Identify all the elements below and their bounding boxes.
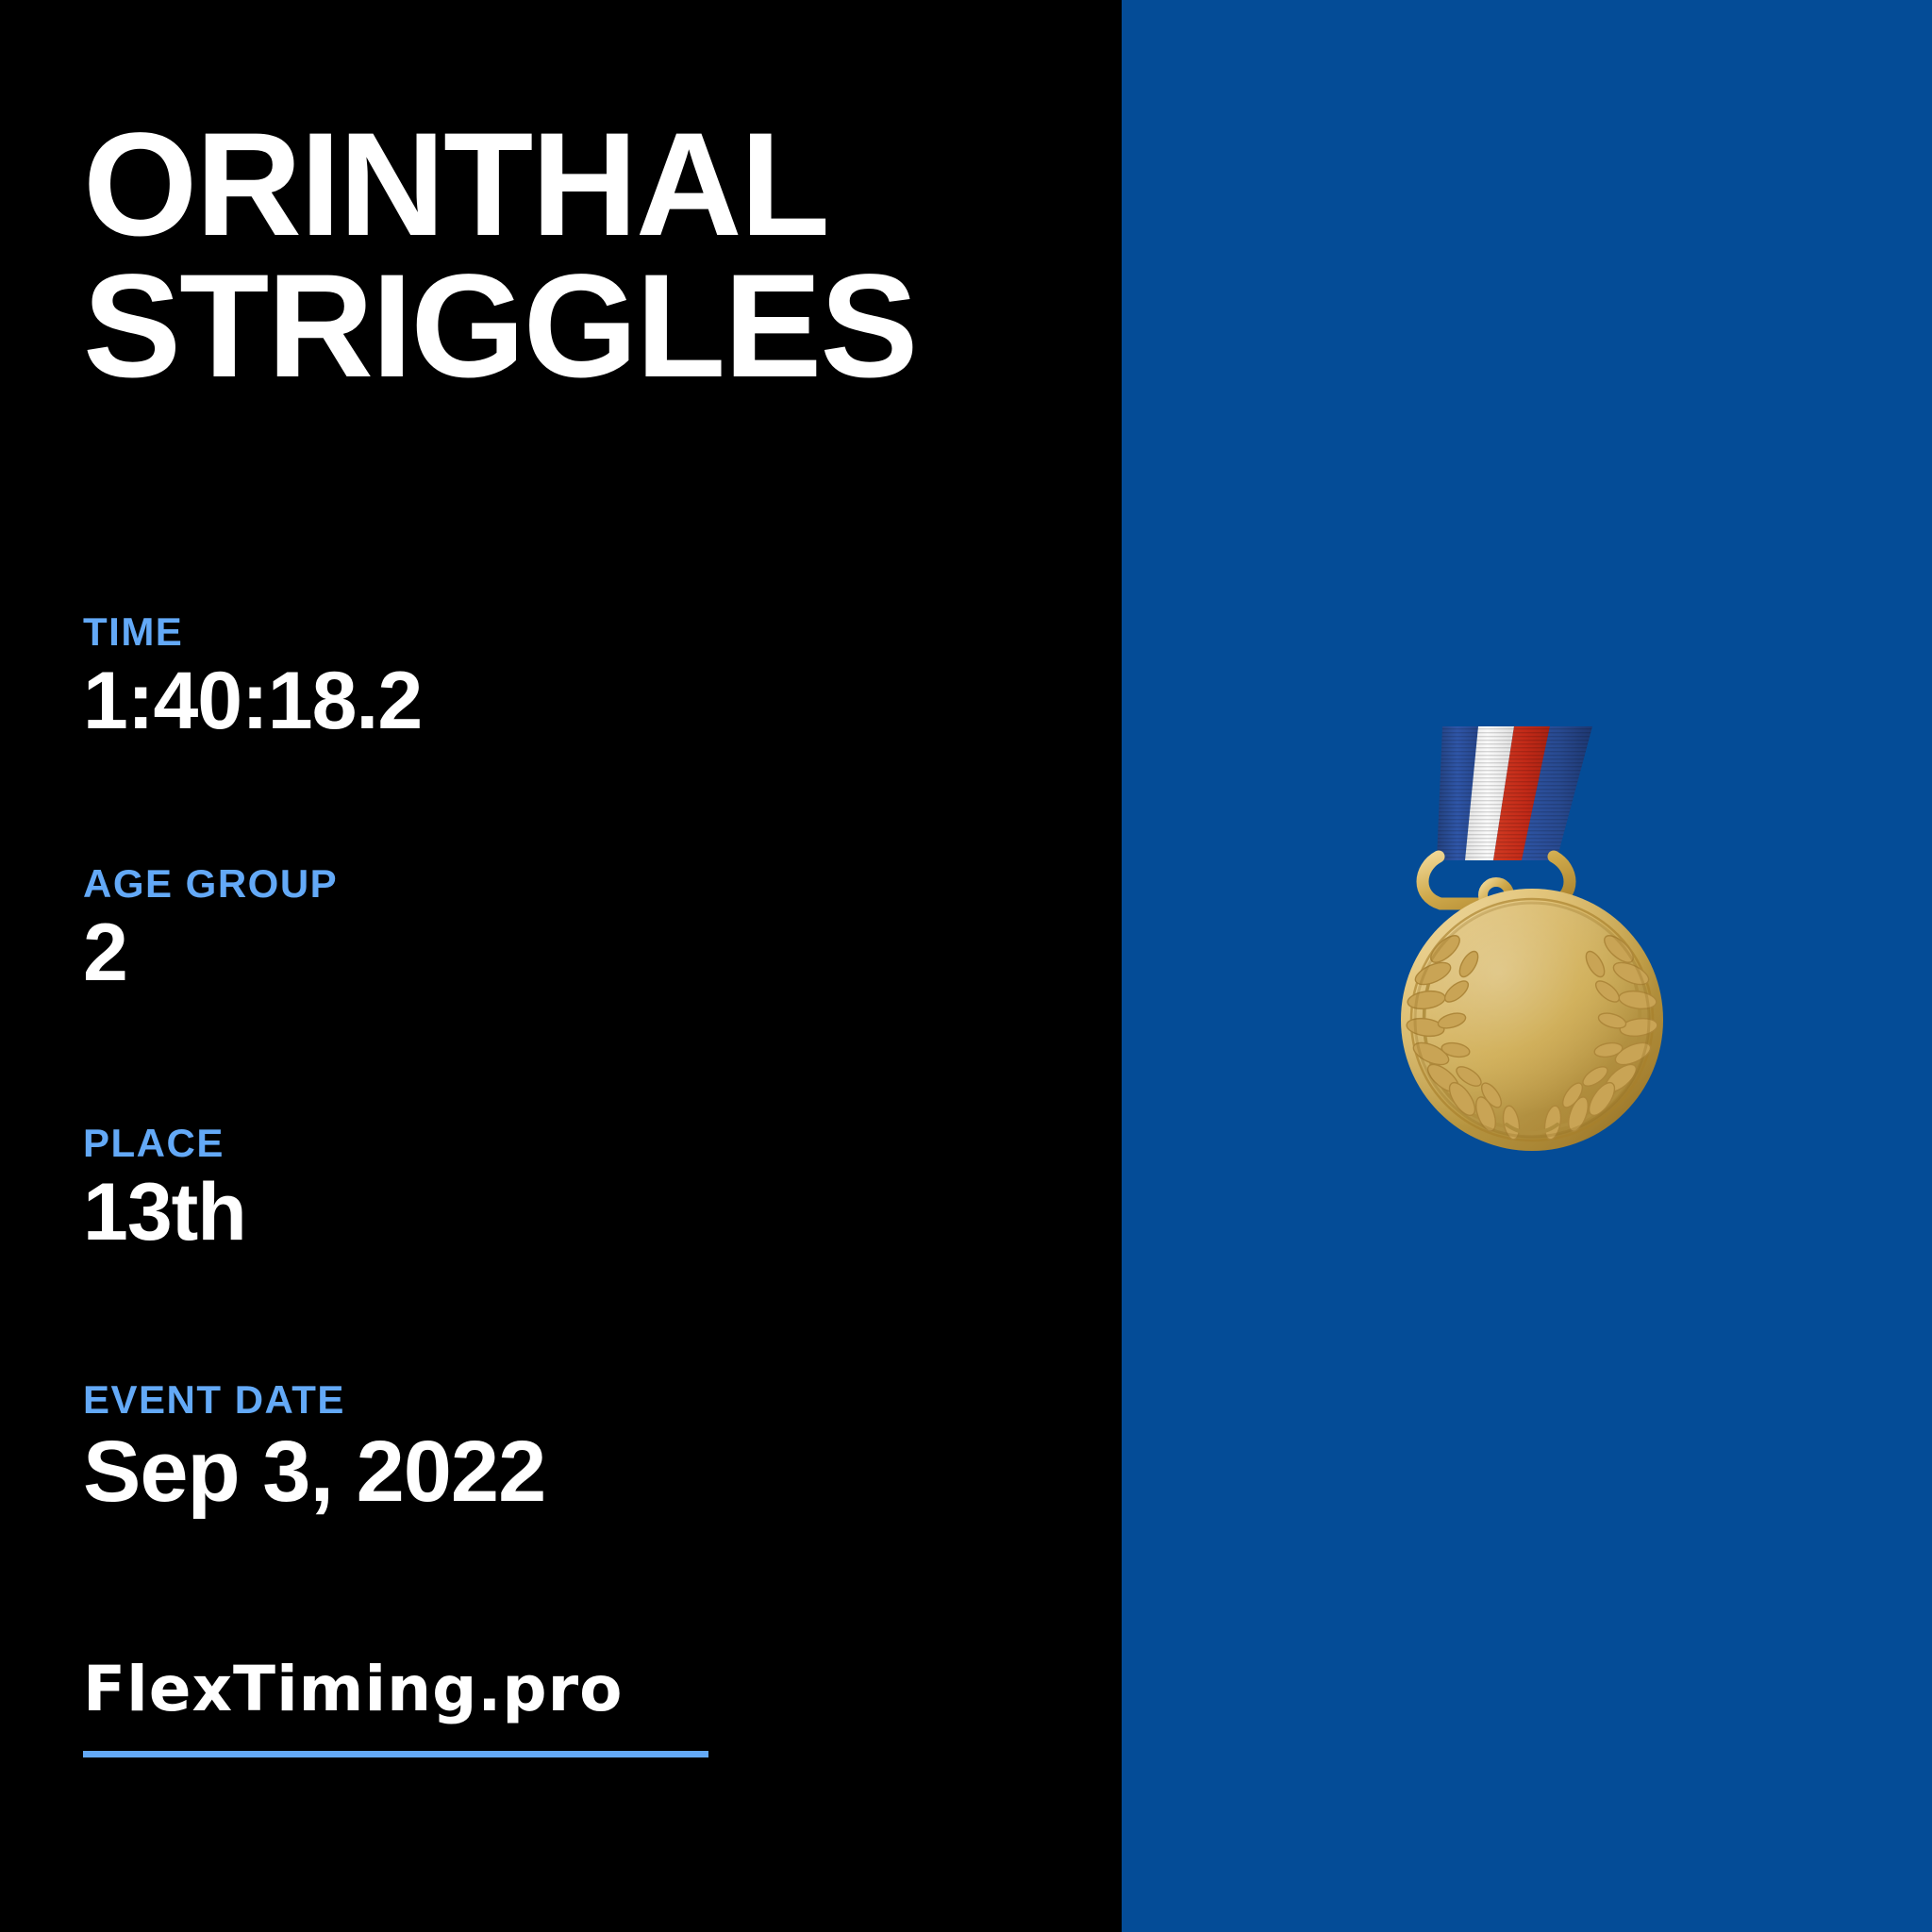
athlete-first-name: ORINTHAL — [83, 115, 1083, 257]
stat-place: PLACE 13th — [83, 1123, 246, 1255]
brand-logo-text: FlexTiming.pro — [83, 1658, 724, 1721]
stat-age-group: AGE GROUP 2 — [83, 863, 338, 995]
gold-medal-icon — [1363, 717, 1707, 1153]
result-card: ORINTHAL STRIGGLES TIME 1:40:18.2 AGE GR… — [0, 0, 1932, 1932]
stat-time: TIME 1:40:18.2 — [83, 611, 422, 743]
stat-place-value: 13th — [83, 1172, 246, 1255]
athlete-last-name: STRIGGLES — [83, 257, 1083, 398]
medal-ribbon — [1437, 726, 1592, 860]
stat-age-group-value: 2 — [83, 912, 338, 995]
stat-event-date: EVENT DATE Sep 3, 2022 — [83, 1379, 545, 1517]
stat-age-group-label: AGE GROUP — [83, 863, 338, 905]
brand-logo[interactable]: FlexTiming.pro — [83, 1658, 724, 1757]
stat-event-date-label: EVENT DATE — [83, 1379, 545, 1421]
brand-logo-underline — [83, 1751, 708, 1757]
stat-time-value: 1:40:18.2 — [83, 660, 422, 743]
stat-place-label: PLACE — [83, 1123, 246, 1164]
stat-event-date-value: Sep 3, 2022 — [83, 1428, 545, 1517]
page-title: ORINTHAL STRIGGLES — [83, 115, 1083, 398]
stat-time-label: TIME — [83, 611, 422, 653]
